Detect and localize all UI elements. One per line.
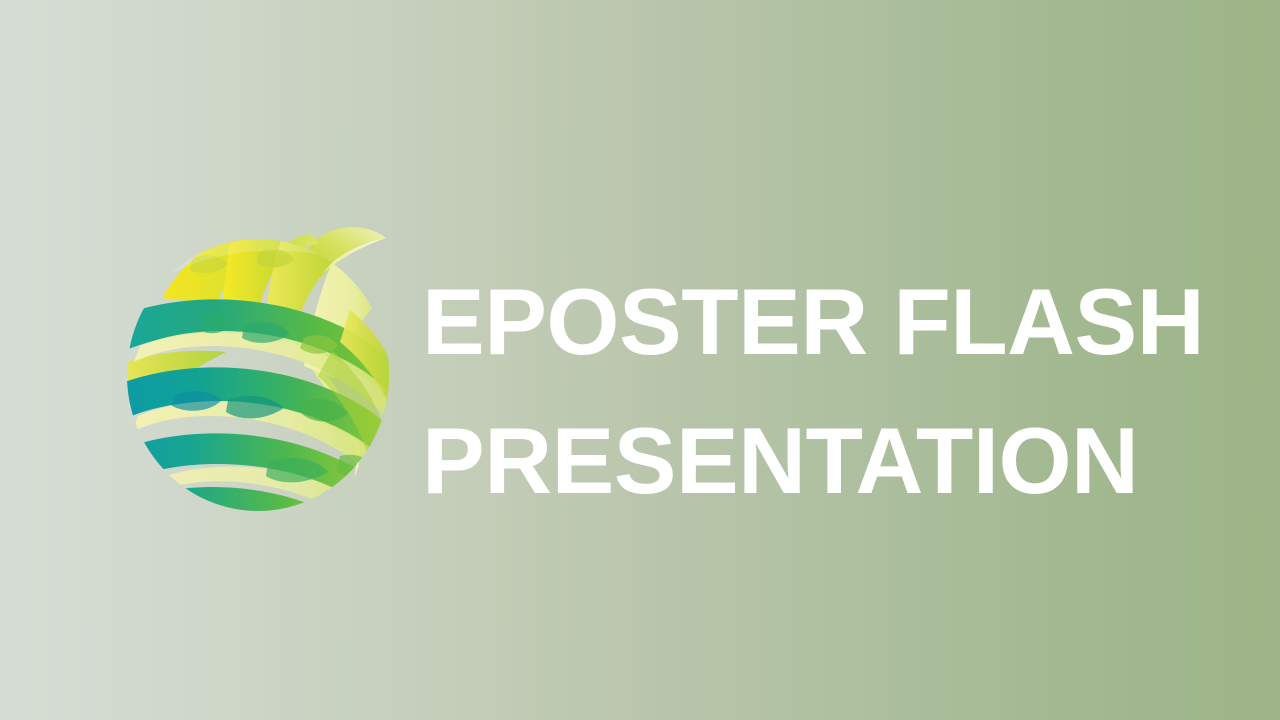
spiral-ribbon-globe-logo bbox=[118, 200, 406, 520]
page-title: EPOSTER FLASH PRESENTATION bbox=[422, 252, 1222, 530]
logo bbox=[118, 200, 406, 520]
slide-content: EPOSTER FLASH PRESENTATION bbox=[0, 0, 1280, 720]
globe bbox=[118, 223, 402, 520]
title-line-1: EPOSTER FLASH bbox=[422, 252, 1222, 391]
title-line-2: PRESENTATION bbox=[422, 391, 1222, 530]
slide-root: EPOSTER FLASH PRESENTATION bbox=[0, 0, 1280, 720]
